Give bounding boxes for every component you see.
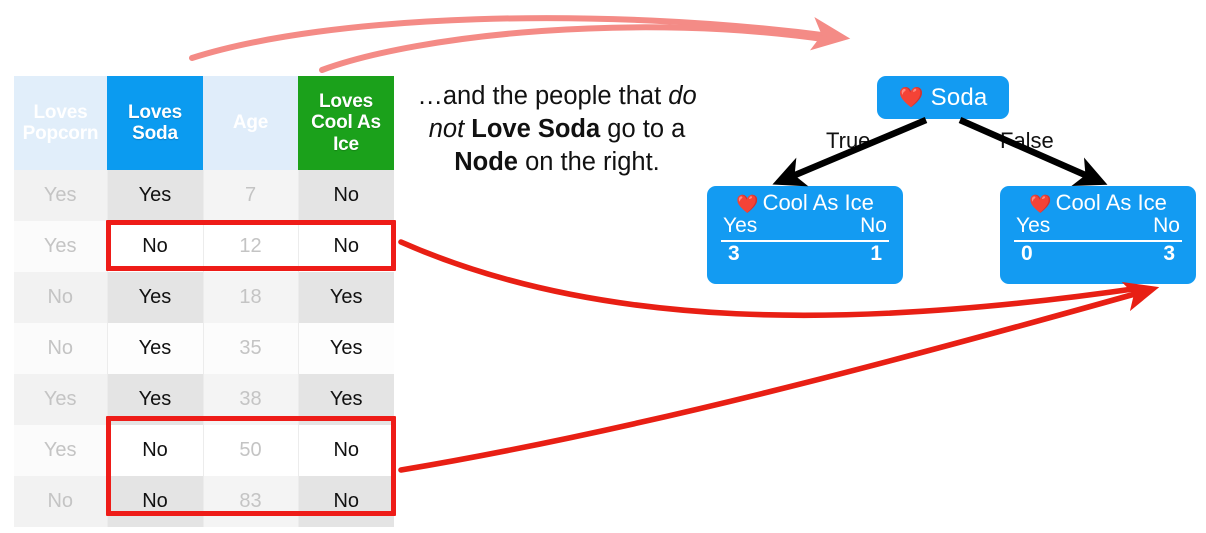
cell-age: 7 bbox=[203, 170, 298, 221]
column-header-loves-cool-as-ice: Loves Cool As Ice bbox=[298, 76, 394, 170]
caption-part-1: …and the people that bbox=[417, 82, 668, 110]
leaf-divider bbox=[1014, 240, 1182, 242]
heart-icon: ❤️ bbox=[736, 194, 758, 214]
cell-loves-soda: No bbox=[107, 221, 203, 272]
table-row: No Yes 35 Yes bbox=[14, 323, 394, 374]
header-line: Loves bbox=[319, 91, 373, 112]
header-line: Popcorn bbox=[23, 123, 99, 144]
cell-loves-popcorn: Yes bbox=[14, 221, 107, 272]
cell-loves-popcorn: No bbox=[14, 323, 107, 374]
leaf-title-label: Cool As Ice bbox=[1056, 190, 1167, 215]
leaf-val-no: 3 bbox=[1163, 243, 1175, 266]
cell-age: 35 bbox=[203, 323, 298, 374]
cell-loves-soda: Yes bbox=[107, 170, 203, 221]
heart-icon: ❤️ bbox=[1029, 194, 1051, 214]
caption-part-3: go to a bbox=[600, 115, 685, 143]
cell-loves-cool-as-ice: Yes bbox=[298, 323, 394, 374]
red-arrow-rows-50-83 bbox=[401, 292, 1142, 470]
cell-age: 12 bbox=[203, 221, 298, 272]
leaf-column-headers: Yes No bbox=[1012, 215, 1184, 238]
cell-loves-popcorn: No bbox=[14, 272, 107, 323]
cell-age: 18 bbox=[203, 272, 298, 323]
leaf-col-yes: Yes bbox=[723, 215, 757, 238]
leaf-val-yes: 0 bbox=[1021, 243, 1033, 266]
table-row: No Yes 18 Yes bbox=[14, 272, 394, 323]
heart-icon: ❤️ bbox=[899, 85, 924, 110]
column-header-age: Age bbox=[203, 76, 298, 170]
cell-loves-cool-as-ice: Yes bbox=[298, 374, 394, 425]
column-header-loves-soda: Loves Soda bbox=[107, 76, 203, 170]
leaf-title: ❤️Cool As Ice bbox=[719, 191, 891, 214]
table-row-highlighted: Yes No 12 No bbox=[14, 221, 394, 272]
leaf-col-yes: Yes bbox=[1016, 215, 1050, 238]
cell-loves-soda: Yes bbox=[107, 323, 203, 374]
leaf-values: 0 3 bbox=[1012, 243, 1184, 266]
pink-arrow-soda-column bbox=[192, 18, 830, 58]
cell-loves-cool-as-ice: No bbox=[298, 425, 394, 476]
cell-loves-soda: No bbox=[107, 476, 203, 527]
header-line: Age bbox=[233, 112, 268, 133]
cell-loves-soda: Yes bbox=[107, 374, 203, 425]
header-line: Loves bbox=[128, 102, 182, 123]
cell-age: 83 bbox=[203, 476, 298, 527]
cell-age: 50 bbox=[203, 425, 298, 476]
caption-bold-love-soda: Love Soda bbox=[471, 115, 600, 143]
leaf-val-yes: 3 bbox=[728, 243, 740, 266]
table-row-highlighted: Yes No 50 No bbox=[14, 425, 394, 476]
leaf-col-no: No bbox=[1153, 215, 1180, 238]
table-body: Yes Yes 7 No Yes No 12 No No Yes 18 Yes … bbox=[14, 170, 394, 527]
leaf-column-headers: Yes No bbox=[719, 215, 891, 238]
column-header-loves-popcorn: Loves Popcorn bbox=[14, 76, 107, 170]
cell-loves-cool-as-ice: No bbox=[298, 476, 394, 527]
leaf-values: 3 1 bbox=[719, 243, 891, 266]
header-line: Ice bbox=[333, 134, 359, 155]
cell-loves-popcorn: Yes bbox=[14, 374, 107, 425]
header-line: Loves bbox=[34, 102, 88, 123]
table-row: Yes Yes 38 Yes bbox=[14, 374, 394, 425]
cell-loves-soda: Yes bbox=[107, 272, 203, 323]
root-node-label: Soda bbox=[931, 84, 988, 112]
cell-loves-soda: No bbox=[107, 425, 203, 476]
caption-part-4: on the right. bbox=[518, 148, 660, 176]
table-row: Yes Yes 7 No bbox=[14, 170, 394, 221]
pink-arrow-ice-column bbox=[322, 27, 830, 70]
tree-root-node-soda[interactable]: ❤️ Soda bbox=[877, 76, 1009, 119]
edge-label-false: False bbox=[1000, 128, 1054, 154]
training-data-table: Loves Popcorn Loves Soda Age Loves Cool … bbox=[14, 76, 394, 527]
caption-bold-node: Node bbox=[454, 148, 518, 176]
tree-leaf-node-false[interactable]: ❤️Cool As Ice Yes No 0 3 bbox=[1000, 186, 1196, 284]
header-line: Soda bbox=[132, 123, 178, 144]
edge-label-true: True bbox=[826, 128, 870, 154]
leaf-title: ❤️Cool As Ice bbox=[1012, 191, 1184, 214]
slide-canvas: Loves Popcorn Loves Soda Age Loves Cool … bbox=[0, 0, 1206, 533]
cell-loves-cool-as-ice: Yes bbox=[298, 272, 394, 323]
leaf-col-no: No bbox=[860, 215, 887, 238]
caption-text: …and the people that do not Love Soda go… bbox=[414, 80, 700, 179]
leaf-val-no: 1 bbox=[870, 243, 882, 266]
cell-loves-cool-as-ice: No bbox=[298, 221, 394, 272]
cell-age: 38 bbox=[203, 374, 298, 425]
header-line: Cool As bbox=[311, 112, 381, 133]
leaf-divider bbox=[721, 240, 889, 242]
table-header-row: Loves Popcorn Loves Soda Age Loves Cool … bbox=[14, 76, 394, 170]
table-row-highlighted: No No 83 No bbox=[14, 476, 394, 527]
leaf-title-label: Cool As Ice bbox=[763, 190, 874, 215]
cell-loves-popcorn: Yes bbox=[14, 170, 107, 221]
cell-loves-popcorn: Yes bbox=[14, 425, 107, 476]
tree-leaf-node-true[interactable]: ❤️Cool As Ice Yes No 3 1 bbox=[707, 186, 903, 284]
cell-loves-popcorn: No bbox=[14, 476, 107, 527]
cell-loves-cool-as-ice: No bbox=[298, 170, 394, 221]
